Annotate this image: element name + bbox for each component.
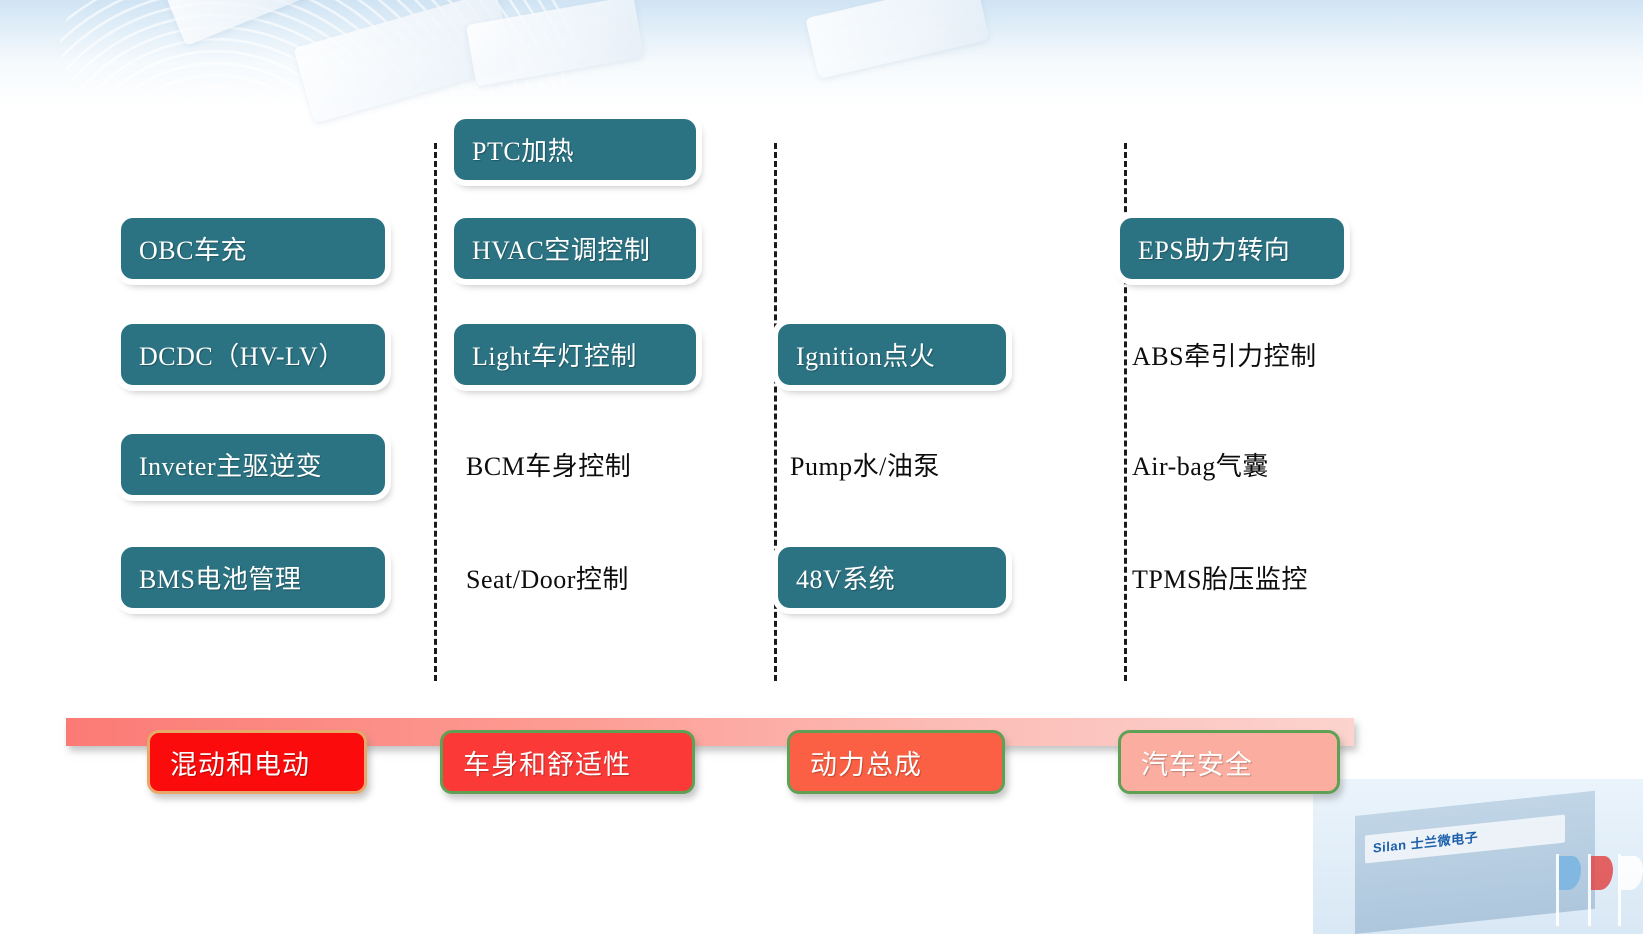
flag-cloth-blue bbox=[1559, 856, 1581, 890]
node-box[interactable]: HVAC空调控制 bbox=[452, 216, 698, 281]
flagpole-3 bbox=[1618, 854, 1621, 926]
company-sign: Silan 士兰微电子 bbox=[1365, 814, 1565, 863]
flag-cloth-white bbox=[1621, 856, 1643, 890]
building-photo-decoration: Silan 士兰微电子 bbox=[1313, 779, 1643, 934]
node-box[interactable]: Ignition点火 bbox=[776, 322, 1008, 387]
building-body bbox=[1355, 791, 1595, 934]
category-box-hybrid-electric[interactable]: 混动和电动 bbox=[147, 730, 367, 794]
column-divider-1 bbox=[434, 143, 437, 681]
flagpole-2 bbox=[1588, 854, 1591, 926]
node-box[interactable]: OBC车充 bbox=[119, 216, 387, 281]
category-box-vehicle-safety[interactable]: 汽车安全 bbox=[1118, 730, 1340, 794]
node-label: ABS牵引力控制 bbox=[1118, 322, 1317, 387]
node-label: TPMS胎压监控 bbox=[1118, 545, 1308, 610]
node-label: Seat/Door控制 bbox=[452, 545, 629, 610]
node-box[interactable]: PTC加热 bbox=[452, 117, 698, 182]
node-label: Pump水/油泵 bbox=[776, 432, 940, 497]
node-box[interactable]: BMS电池管理 bbox=[119, 545, 387, 610]
slide-canvas: Silan 士兰微电子 OBC车充DCDC（HV-LV）Inveter主驱逆变B… bbox=[0, 0, 1643, 934]
node-box[interactable]: 48V系统 bbox=[776, 545, 1008, 610]
node-box[interactable]: Light车灯控制 bbox=[452, 322, 698, 387]
node-box[interactable]: Inveter主驱逆变 bbox=[119, 432, 387, 497]
chip-image-4 bbox=[165, 0, 325, 46]
node-box[interactable]: EPS助力转向 bbox=[1118, 216, 1346, 281]
chip-image-3 bbox=[805, 0, 989, 79]
node-box[interactable]: DCDC（HV-LV） bbox=[119, 322, 387, 387]
node-label: BCM车身控制 bbox=[452, 432, 631, 497]
chip-image-1 bbox=[293, 0, 516, 123]
chip-image-2 bbox=[466, 0, 644, 86]
flagpole-1 bbox=[1556, 854, 1559, 926]
node-label: Air-bag气囊 bbox=[1118, 432, 1269, 497]
top-banner-decoration bbox=[0, 0, 1643, 108]
category-box-powertrain[interactable]: 动力总成 bbox=[787, 730, 1005, 794]
category-box-body-comfort[interactable]: 车身和舒适性 bbox=[440, 730, 695, 794]
flag-cloth-red bbox=[1591, 856, 1613, 890]
